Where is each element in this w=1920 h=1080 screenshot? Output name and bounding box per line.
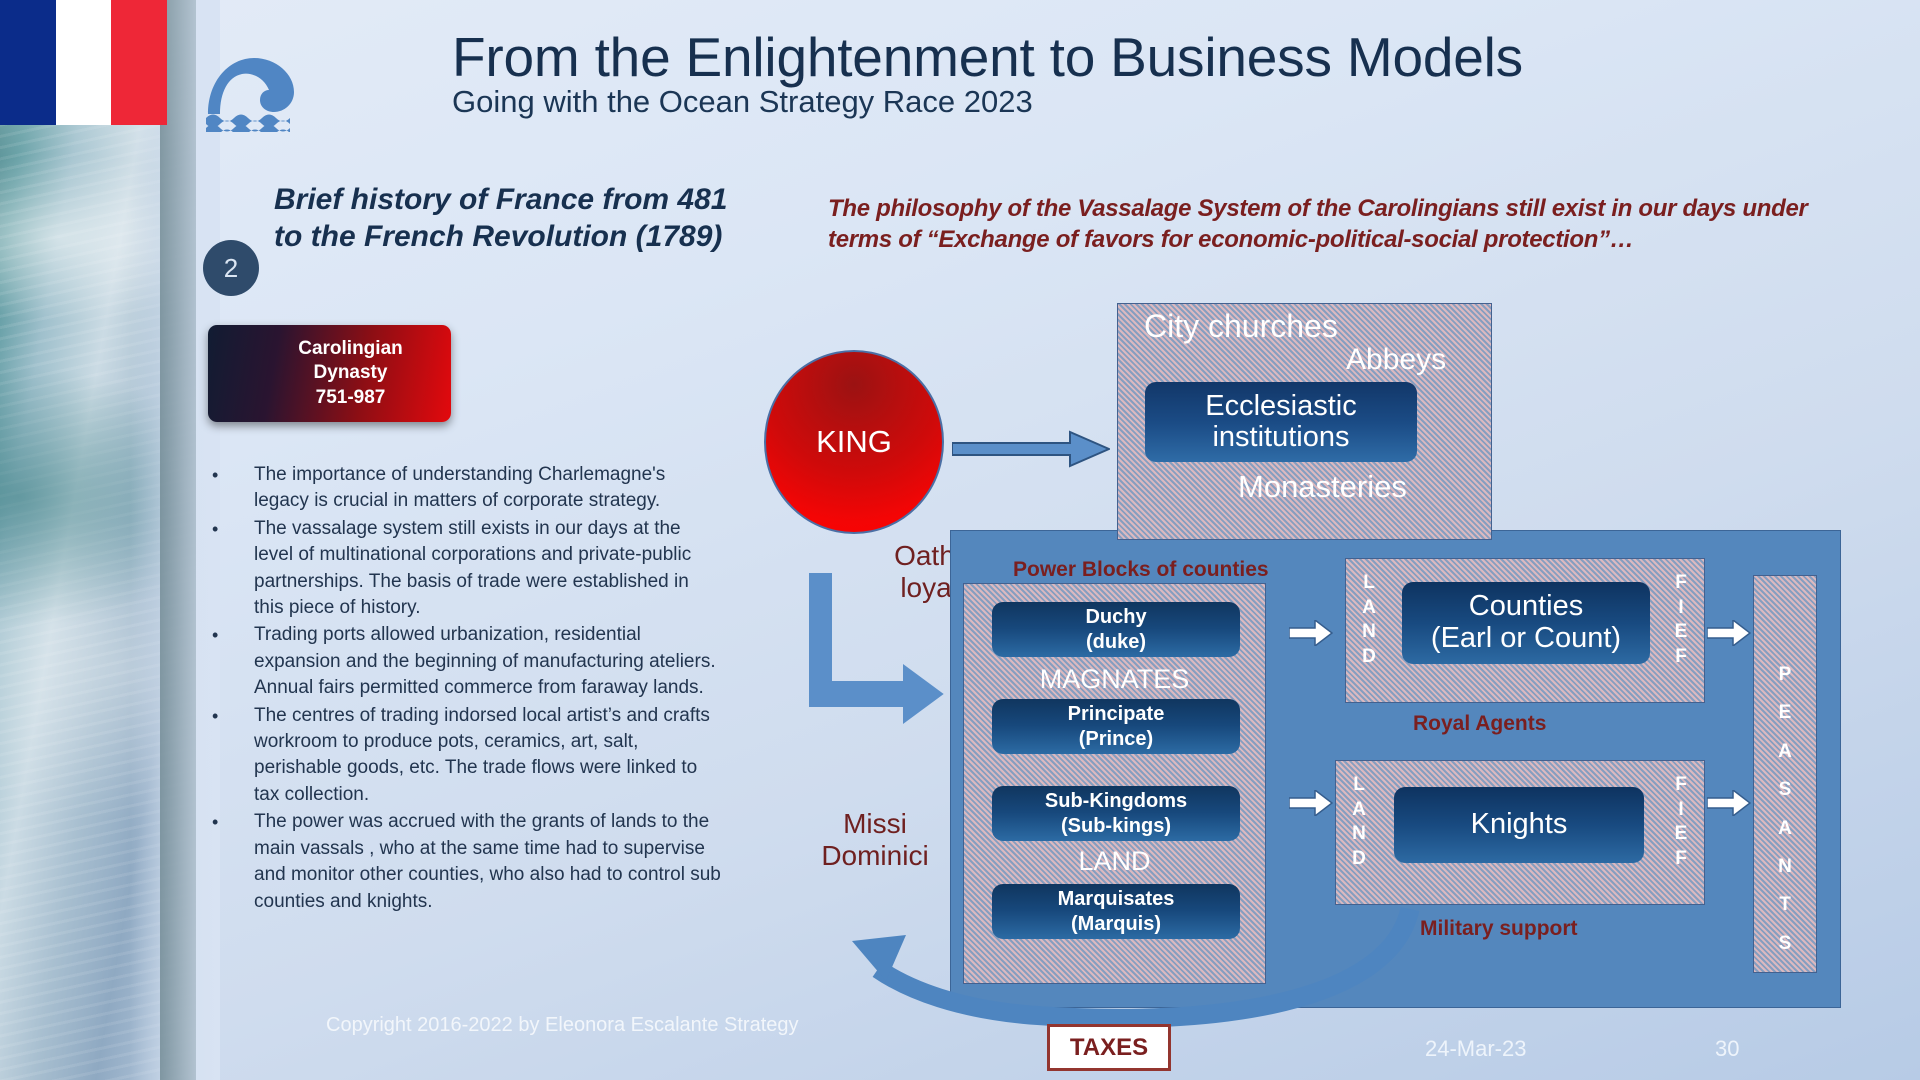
principate-line-2: (Prince) [1068,727,1165,751]
arrow-magnates-to-counties-icon [1289,620,1333,651]
footer-date: 24-Mar-23 [1425,1036,1526,1062]
section-heading: Brief history of France from 481 to the … [274,182,754,255]
land-label: LAND [964,846,1265,877]
page-title: From the Enlightenment to Business Model… [452,28,1752,86]
arrow-king-to-church-icon [952,430,1110,468]
ecclesiastic-panel: City churches Abbeys Ecclesiastic instit… [1117,303,1492,540]
magnate-box-duchy: Duchy (duke) [992,602,1240,657]
military-support-caption: Military support [1420,917,1578,941]
ecclesiastic-line-1: Ecclesiastic [1205,391,1357,422]
magnate-box-principate: Principate (Prince) [992,699,1240,754]
dynasty-line-3: 751-987 [298,386,403,410]
counties-fief-label: FIEF [1670,571,1692,670]
bullet-list: • The importance of understanding Charle… [212,462,722,916]
bullet-dot-icon: • [212,703,254,809]
dynasty-card: Carolingian Dynasty 751-987 [208,325,451,422]
knights-fief-label: FIEF [1670,773,1692,872]
counties-cell: LAND FIEF Counties (Earl or Count) [1345,558,1705,703]
bullet-text: The centres of trading indorsed local ar… [254,703,722,809]
knights-box: Knights [1394,787,1644,863]
counties-line-2: (Earl or Count) [1431,623,1621,655]
knights-land-label: LAND [1348,773,1370,872]
bullet-dot-icon: • [212,516,254,622]
arrow-knights-to-peasants-icon [1707,790,1751,821]
monasteries-label: Monasteries [1238,469,1407,505]
royal-agents-caption: Royal Agents [1413,712,1546,736]
header-title-block: From the Enlightenment to Business Model… [452,28,1752,120]
slide-canvas: From the Enlightenment to Business Model… [0,0,1920,1080]
ecclesiastic-institutions-box: Ecclesiastic institutions [1145,382,1417,462]
duchy-line-1: Duchy [1085,605,1146,629]
dynasty-line-1: Carolingian [298,337,403,361]
magnates-label: MAGNATES [964,664,1265,695]
peasants-column: PEASANTS [1753,575,1817,973]
bullet-text: Trading ports allowed urbanization, resi… [254,622,722,701]
bullet-dot-icon: • [212,462,254,515]
abbeys-label: Abbeys [1346,343,1446,377]
power-blocks-title: Power Blocks of counties [1013,558,1269,582]
duchy-line-2: (duke) [1085,630,1146,654]
city-churches-label: City churches [1144,308,1338,345]
subkingdoms-line-1: Sub-Kingdoms [1045,789,1187,813]
copyright-text: Copyright 2016-2022 by Eleonora Escalant… [326,1014,799,1037]
list-item: • The power was accrued with the grants … [212,809,722,915]
ocean-wave-icon [200,52,310,132]
dynasty-line-2: Dynasty [298,361,403,385]
arrow-taxes-feedback-icon [790,905,1430,1040]
taxes-badge: TAXES [1047,1024,1171,1071]
knights-line-1: Knights [1471,809,1568,841]
ecclesiastic-line-2: institutions [1205,422,1357,453]
list-item: • The importance of understanding Charle… [212,462,722,515]
list-item: • The vassalage system still exists in o… [212,516,722,622]
bullet-text: The importance of understanding Charlema… [254,462,722,515]
left-gray-band [160,0,196,1080]
subkingdoms-line-2: (Sub-kings) [1045,814,1187,838]
arrow-king-to-magnates-icon [806,570,946,735]
bullet-text: The vassalage system still exists in our… [254,516,722,622]
magnate-box-subkingdoms: Sub-Kingdoms (Sub-kings) [992,786,1240,841]
france-flag-icon [0,0,167,125]
king-node: KING [764,350,944,534]
list-item: • Trading ports allowed urbanization, re… [212,622,722,701]
arrow-counties-to-peasants-icon [1707,620,1751,651]
list-item: • The centres of trading indorsed local … [212,703,722,809]
section-badge: 2 [203,240,259,296]
page-subtitle: Going with the Ocean Strategy Race 2023 [452,84,1752,120]
missi-dominici-label: Missi Dominici [795,808,955,872]
bullet-text: The power was accrued with the grants of… [254,809,722,915]
counties-line-1: Counties [1431,591,1621,623]
footer-page-number: 30 [1715,1036,1739,1062]
bullet-dot-icon: • [212,809,254,915]
philosophy-text: The philosophy of the Vassalage System o… [828,194,1828,255]
counties-land-label: LAND [1358,571,1380,670]
arrow-magnates-to-knights-icon [1289,790,1333,821]
knights-cell: LAND FIEF Knights [1335,760,1705,905]
bullet-dot-icon: • [212,622,254,701]
counties-box: Counties (Earl or Count) [1402,582,1650,664]
principate-line-1: Principate [1068,702,1165,726]
